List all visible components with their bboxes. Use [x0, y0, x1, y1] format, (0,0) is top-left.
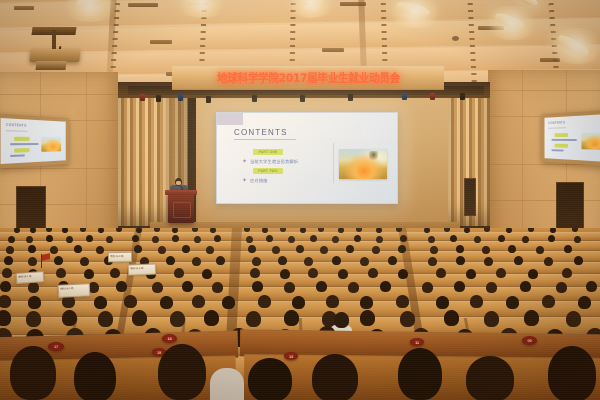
stage-spotlight	[460, 93, 465, 100]
speaker-face	[176, 181, 181, 185]
foreground-shoulder	[210, 368, 244, 400]
stage-curtain-left	[118, 94, 172, 226]
audience-seating: 地科 04-6 班 地科 04-5 班 地科 04-3 班 地科 04-1 班 …	[0, 228, 600, 400]
slide-corner-accent	[217, 113, 243, 125]
slide-bullet-icon: ✦	[242, 179, 246, 183]
row-number-badge: 18	[162, 334, 177, 343]
row-number-badge: 11	[410, 338, 424, 346]
stage-spotlight	[140, 94, 145, 101]
row-number-badge: 09	[522, 336, 537, 345]
stage-spotlight	[206, 96, 211, 103]
foreground-head	[74, 352, 116, 400]
audience-member-head	[334, 312, 349, 328]
stage-back-door	[464, 178, 476, 216]
class-placard: 地科 04-5 班	[58, 283, 91, 298]
slide-part-two-tag: PART TWO	[253, 168, 283, 174]
foreground-head	[398, 348, 442, 400]
slide-photo	[339, 149, 387, 179]
class-placard: 地科 04-1 班	[16, 271, 45, 284]
event-banner: 地球科学学院2017届毕业生就业动员会	[172, 66, 444, 90]
class-placard: 地科 04-3 班	[108, 252, 132, 262]
stage-spotlight	[156, 95, 161, 102]
left-side-screen: CONTENTS	[0, 113, 69, 168]
slide-part-one-item: 当前大学生就业形势解析	[250, 159, 298, 165]
podium	[168, 193, 194, 223]
row-number-badge: 17	[48, 342, 64, 351]
slide-divider	[333, 143, 334, 183]
main-projection-screen: CONTENTS PART ONE ✦ 当前大学生就业形势解析 PART TWO…	[216, 112, 398, 204]
right-doorway	[556, 182, 584, 232]
slide-photo-tree	[369, 151, 378, 162]
slide-part-two-item: 应对措施	[250, 178, 268, 184]
slide-bullet-icon: ✦	[242, 160, 246, 164]
stage-spotlight	[252, 95, 257, 102]
foreground-head	[158, 344, 206, 400]
slide-heading-rule	[234, 139, 296, 140]
left-doorway	[16, 186, 46, 234]
slide-part-one-tag: PART ONE	[253, 149, 283, 155]
right-side-screen: CONTENTS	[541, 109, 600, 167]
foreground-head	[10, 346, 56, 400]
row-number-badge: 13	[284, 352, 298, 360]
stage-spotlight	[430, 93, 435, 100]
ceiling-projector	[30, 30, 82, 74]
foreground-head	[248, 358, 292, 400]
flag-pole	[41, 254, 42, 268]
auditorium-photo: CONTENTS CONTENTS 地球科学学院2017届	[0, 0, 600, 400]
foreground-head	[312, 354, 358, 400]
foreground-head	[548, 346, 596, 400]
stage-spotlight	[402, 93, 407, 100]
right-screen-heading: CONTENTS	[548, 120, 565, 125]
class-placard: 地科 04-6 班	[128, 264, 156, 276]
foreground-head	[466, 356, 514, 400]
left-screen-heading: CONTENTS	[6, 123, 27, 128]
stage-spotlight	[348, 94, 353, 101]
banner-text: 地球科学学院2017届毕业生就业动员会	[217, 70, 400, 86]
stage-spotlight	[178, 94, 183, 101]
slide-heading: CONTENTS	[234, 128, 288, 137]
stage-spotlight	[300, 95, 305, 102]
